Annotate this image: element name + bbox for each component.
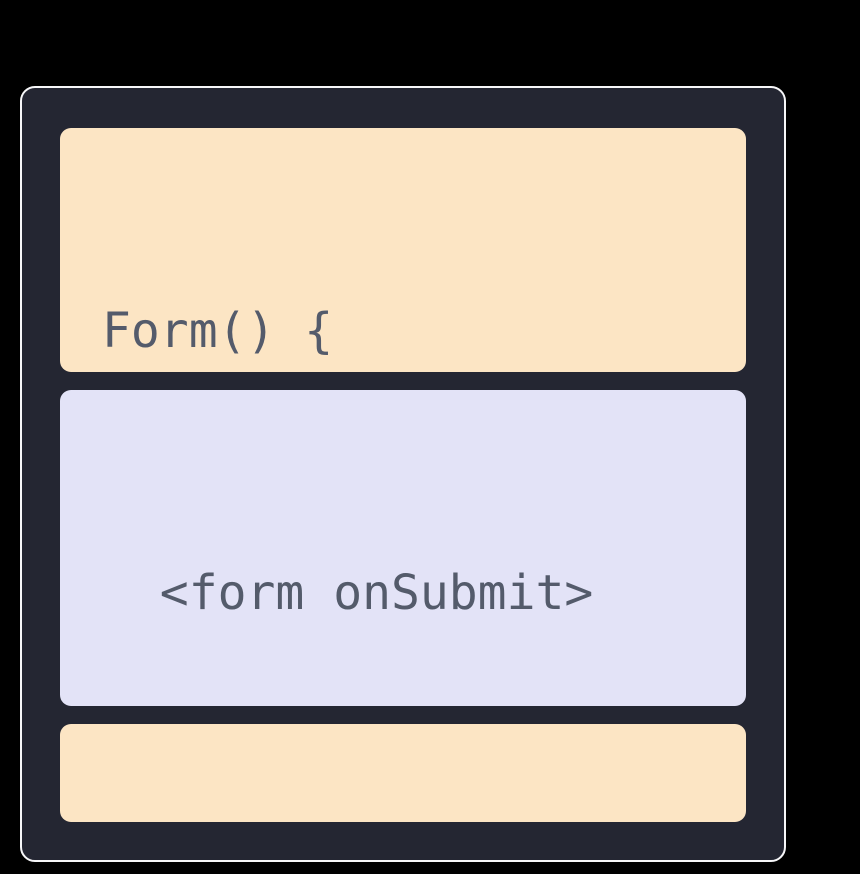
component-card: Form() { onClick() {...} onSubmit() {...… (20, 86, 786, 862)
code-block-logic-bottom: } (60, 724, 746, 822)
code-block-markup: <form onSubmit> <input onClick /> <input… (60, 390, 746, 706)
code-block-logic-top: Form() { onClick() {...} onSubmit() {...… (60, 128, 746, 372)
page-canvas: Form() { onClick() {...} onSubmit() {...… (0, 0, 860, 874)
code-line-list-markup: <form onSubmit> <input onClick /> <input… (60, 390, 746, 706)
code-line: Form() { (102, 294, 746, 368)
code-line-list-logic-bottom: } (60, 724, 746, 822)
code-line-list-logic-top: Form() { onClick() {...} onSubmit() {...… (60, 128, 746, 372)
code-line: <form onSubmit> (102, 556, 746, 630)
